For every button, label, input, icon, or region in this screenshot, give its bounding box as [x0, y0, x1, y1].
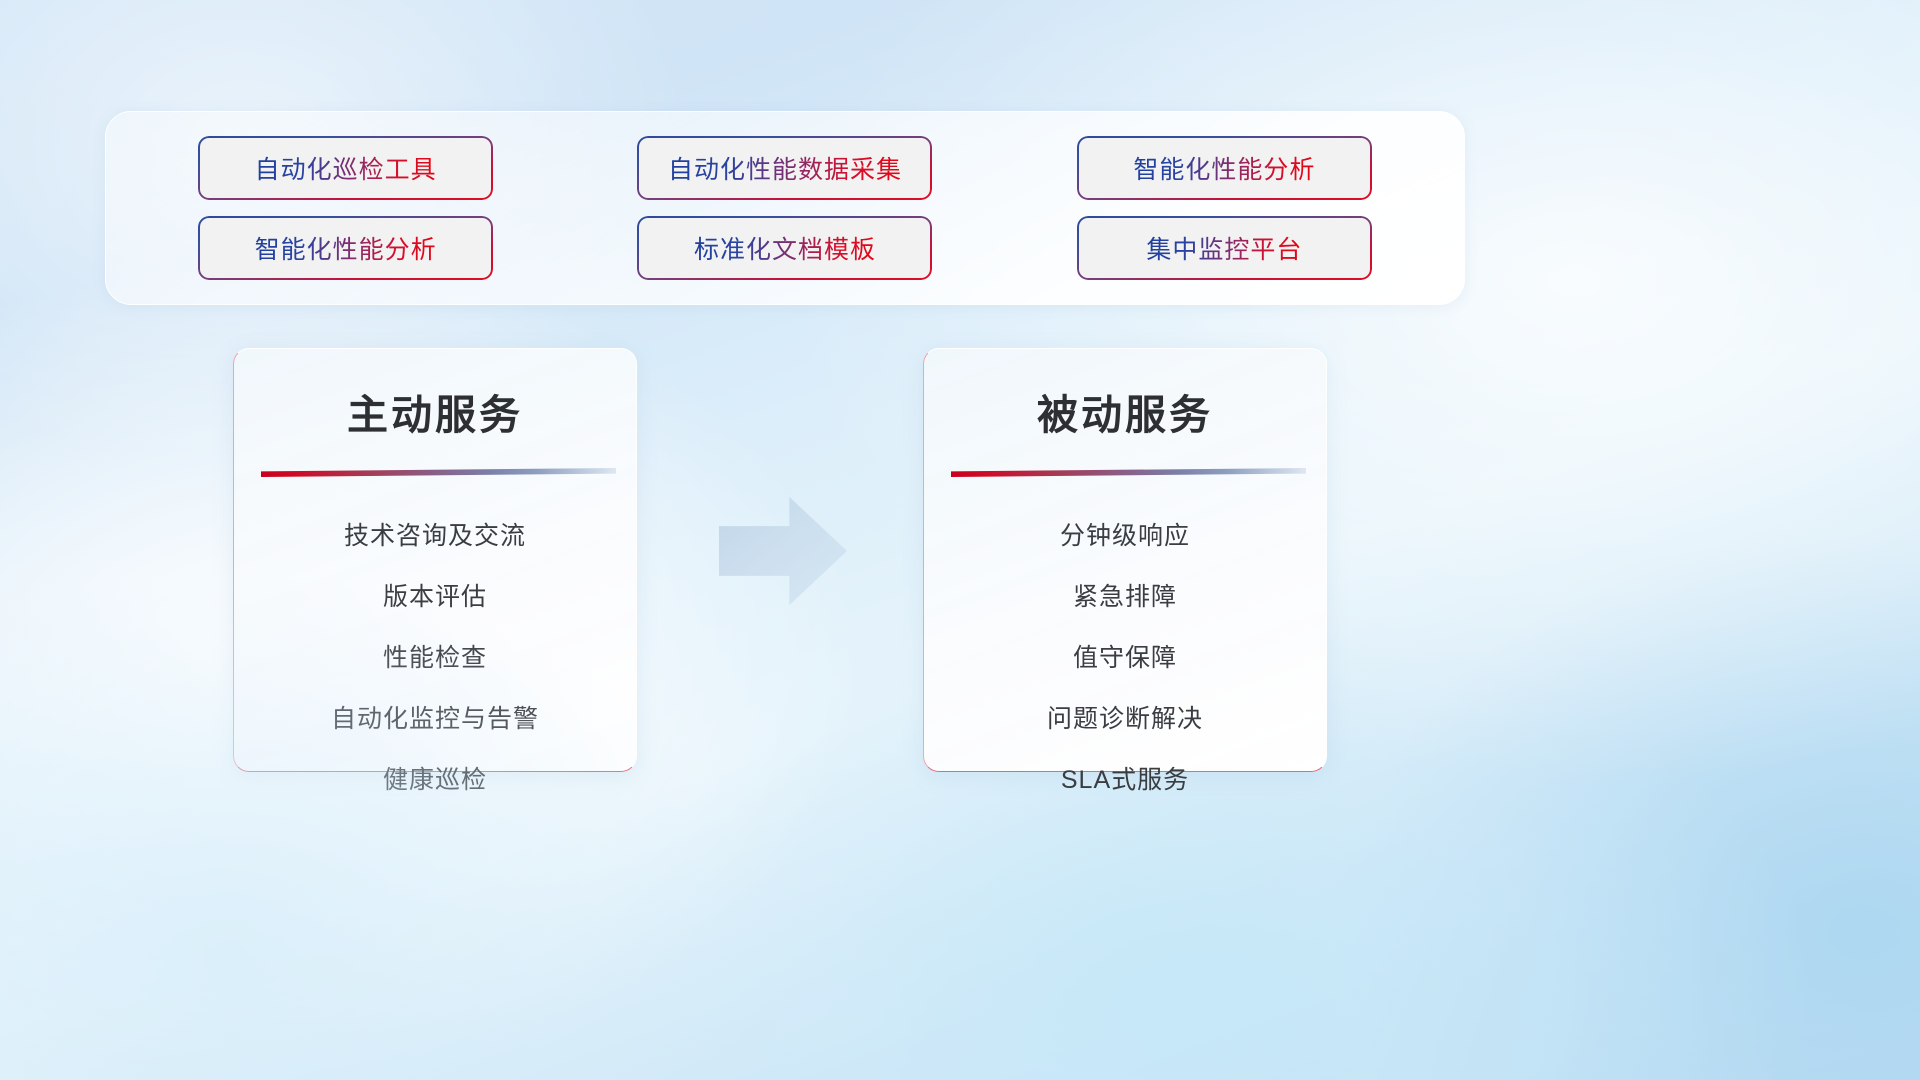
- capability-pill-automated-inspection-tool[interactable]: 自动化巡检工具: [200, 138, 491, 198]
- capability-pill-label: 自动化性能数据采集: [668, 150, 902, 186]
- card-item-list: 技术咨询及交流 版本评估 性能检查 自动化监控与告警 健康巡检: [260, 506, 610, 811]
- capability-pill-label: 智能化性能分析: [255, 230, 437, 266]
- capability-pill-standardized-document-template[interactable]: 标准化文档模板: [639, 218, 930, 278]
- list-item: 值守保障: [950, 628, 1300, 689]
- capability-pill-label: 自动化巡检工具: [255, 150, 437, 186]
- capability-pill-grid: 自动化巡检工具 自动化性能数据采集 智能化性能分析 智能化性能分析 标准化文档模…: [106, 112, 1464, 304]
- card-divider: [950, 462, 1300, 484]
- capability-pill-centralized-monitoring-platform[interactable]: 集中监控平台: [1079, 218, 1370, 278]
- service-card-proactive[interactable]: 主动服务 技术咨询及交流 版本评估 性能检查 自动化监控与告警 健康巡检: [233, 348, 637, 772]
- capability-pill-label: 智能化性能分析: [1133, 150, 1315, 186]
- list-item: 技术咨询及交流: [260, 506, 610, 567]
- list-item: 性能检查: [260, 628, 610, 689]
- card-divider: [260, 462, 610, 484]
- capability-pill-intelligent-performance-analysis-1[interactable]: 智能化性能分析: [1079, 138, 1370, 198]
- list-item: SLA式服务: [950, 750, 1300, 811]
- gradient-rule-icon: [261, 468, 616, 477]
- card-item-list: 分钟级响应 紧急排障 值守保障 问题诊断解决 SLA式服务: [950, 506, 1300, 811]
- card-title: 被动服务: [950, 395, 1300, 436]
- service-card-reactive[interactable]: 被动服务 分钟级响应 紧急排障 值守保障 问题诊断解决 SLA式服务: [923, 348, 1327, 772]
- capability-pill-label: 集中监控平台: [1146, 230, 1302, 266]
- list-item: 紧急排障: [950, 567, 1300, 628]
- list-item: 健康巡检: [260, 750, 610, 811]
- capability-pill-label: 标准化文档模板: [694, 230, 876, 266]
- list-item: 自动化监控与告警: [260, 689, 610, 750]
- gradient-rule-icon: [951, 468, 1306, 477]
- capability-panel: 自动化巡检工具 自动化性能数据采集 智能化性能分析 智能化性能分析 标准化文档模…: [105, 111, 1465, 305]
- list-item: 问题诊断解决: [950, 689, 1300, 750]
- list-item: 分钟级响应: [950, 506, 1300, 567]
- arrow-right-icon: [719, 497, 847, 605]
- capability-pill-automated-performance-data-collection[interactable]: 自动化性能数据采集: [639, 138, 930, 198]
- list-item: 版本评估: [260, 567, 610, 628]
- capability-pill-intelligent-performance-analysis-2[interactable]: 智能化性能分析: [200, 218, 491, 278]
- card-title: 主动服务: [260, 395, 610, 436]
- slide-canvas: 自动化巡检工具 自动化性能数据采集 智能化性能分析 智能化性能分析 标准化文档模…: [0, 0, 1920, 1080]
